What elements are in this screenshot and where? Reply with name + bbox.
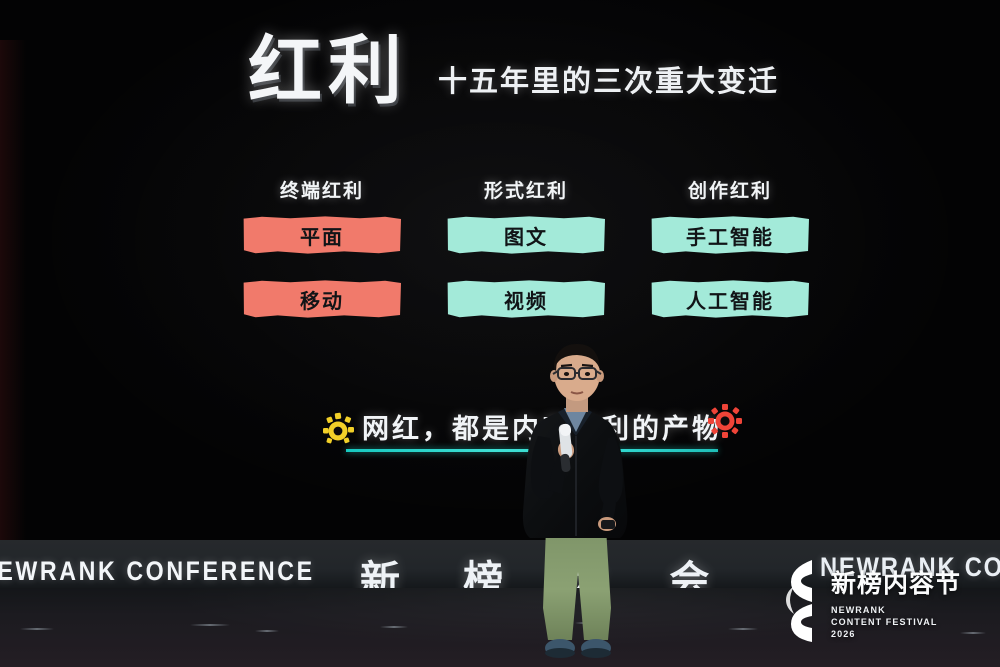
floor-reflection — [960, 632, 986, 634]
chip-tick-mark — [437, 257, 471, 260]
column-format-dividend: 形式红利 图文 视频 — [430, 176, 622, 318]
floor-reflection — [380, 626, 408, 628]
newrank-logo-lockup: 新榜内容节 NEWRANK CONTENT FESTIVAL 2026 — [786, 558, 961, 642]
chip-label: 人工智能 — [686, 285, 774, 314]
speaker-figure — [508, 340, 644, 667]
chip-shougong-zhineng: 手工智能 — [651, 216, 809, 254]
chip-label: 视频 — [504, 285, 548, 314]
chip-shipin: 视频 — [447, 280, 605, 318]
slide-columns: 终端红利 平面 移动 形式红利 图文 视频 创作红利 手工智能 — [226, 176, 826, 318]
logo-text-block: 新榜内容节 NEWRANK CONTENT FESTIVAL 2026 — [831, 558, 961, 640]
column-header: 终端红利 — [280, 176, 364, 203]
newrank-crescent-mark — [786, 558, 822, 642]
chip-tick-mark — [233, 257, 267, 260]
chip-tick-mark — [641, 257, 675, 260]
chip-tuwen: 图文 — [447, 216, 605, 254]
logo-line-3: 2026 — [831, 628, 961, 640]
logo-line-1: NEWRANK — [831, 604, 961, 616]
chip-label: 图文 — [504, 221, 548, 250]
chip-yidong: 移动 — [243, 280, 401, 318]
slide-title-main: 红利 — [248, 34, 408, 108]
floor-reflection — [20, 628, 54, 630]
logo-name-en: NEWRANK CONTENT FESTIVAL 2026 — [831, 604, 961, 640]
chip-label: 手工智能 — [686, 221, 774, 250]
slide-title-subtitle: 十五年里的三次重大变迁 — [438, 58, 779, 100]
backdrop-text-left: NEWRANK CONFERENCE — [0, 556, 315, 587]
red-gear-icon — [708, 404, 742, 438]
logo-name-cn: 新榜内容节 — [831, 572, 961, 597]
chip-rengong-zhineng: 人工智能 — [651, 280, 809, 318]
floor-reflection — [190, 624, 230, 626]
floor-reflection — [255, 630, 279, 632]
column-creation-dividend: 创作红利 手工智能 人工智能 — [634, 176, 826, 318]
conference-stage-photo: 红利 十五年里的三次重大变迁 终端红利 平面 移动 形式红利 图文 视频 — [0, 0, 1000, 667]
slide-title-row: 红利 十五年里的三次重大变迁 — [248, 34, 779, 108]
chip-pingmian: 平面 — [243, 216, 401, 254]
floor-reflection — [728, 628, 758, 630]
yellow-gear-icon — [322, 412, 356, 446]
column-terminal-dividend: 终端红利 平面 移动 — [226, 176, 418, 318]
logo-line-2: CONTENT FESTIVAL — [831, 616, 961, 628]
column-header: 形式红利 — [484, 176, 568, 203]
chip-label: 平面 — [300, 221, 344, 250]
column-header: 创作红利 — [688, 176, 772, 203]
chip-label: 移动 — [300, 285, 344, 314]
